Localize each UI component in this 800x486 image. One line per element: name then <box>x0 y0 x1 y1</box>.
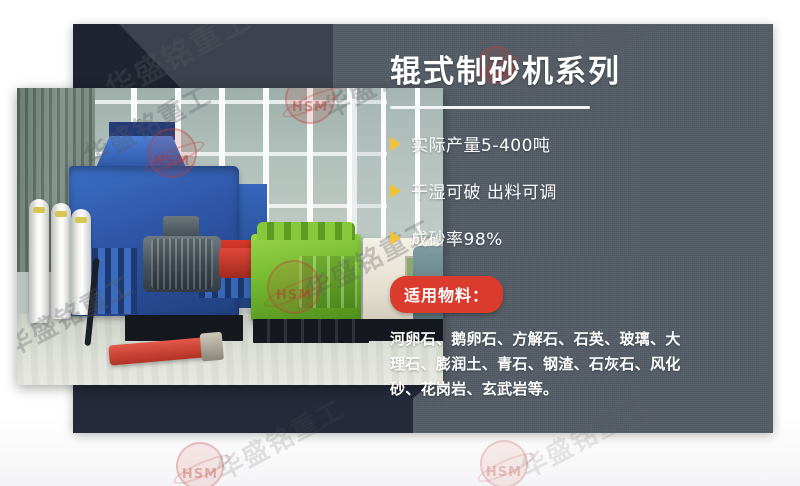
materials-badge: 适用物料： <box>390 276 503 313</box>
photo-watermark-logo-3: HSM <box>267 260 321 314</box>
photo-watermark-logo: HSM <box>147 128 197 178</box>
gas-cylinder-2 <box>51 203 71 319</box>
feature-label: 干湿可破 出料可调 <box>411 178 557 203</box>
page-watermark-logo: HSM <box>176 442 224 486</box>
page-watermark-logo-2: HSM <box>480 440 528 486</box>
product-title: 辊式制砂机系列 <box>390 55 690 89</box>
feature-item: 实际产量5-400吨 <box>390 131 690 156</box>
photo-watermark-logo-text-3: HSM <box>269 288 319 303</box>
photo-watermark-logo-text: HSM <box>149 154 195 169</box>
product-info-block: 辊式制砂机系列 实际产量5-400吨 干湿可破 出料可调 成砂率98% 适用物料… <box>390 55 690 401</box>
motor-terminal-box <box>163 216 199 238</box>
feature-list: 实际产量5-400吨 干湿可破 出料可调 成砂率98% <box>390 131 690 250</box>
machine-base-1 <box>125 315 243 341</box>
red-coupling <box>219 248 253 278</box>
title-divider <box>390 106 590 109</box>
electric-motor <box>143 236 221 292</box>
gas-cylinder-1 <box>29 199 49 323</box>
materials-text: 河卵石、鹅卵石、方解石、石英、玻璃、大理石、膨润土、青石、钢渣、石灰石、风化砂、… <box>390 327 686 401</box>
feature-label: 实际产量5-400吨 <box>411 131 550 156</box>
panel-dark-bottom-band <box>73 381 413 433</box>
page-watermark-logo-text: HSM <box>178 467 222 482</box>
gas-cylinder-3 <box>71 209 91 315</box>
feature-item: 成砂率98% <box>390 225 690 250</box>
arrow-right-icon <box>390 184 401 198</box>
photo-watermark-logo-text-2: HSM <box>287 100 333 115</box>
feature-item: 干湿可破 出料可调 <box>390 178 690 203</box>
arrow-right-icon <box>390 231 401 245</box>
page-watermark-logo-text-2: HSM <box>482 465 526 480</box>
arrow-right-icon <box>390 137 401 151</box>
poster-canvas: 华盛铭重工 HSM 华盛铭重工 HSM 华盛铭重工 <box>0 0 800 486</box>
machine-base-2 <box>253 319 369 343</box>
feature-label: 成砂率98% <box>411 225 503 250</box>
product-photo: 华盛铭重工 HSM 华盛铭重工 HSM 华盛铭重工 HSM 华盛铭重工 <box>17 88 443 385</box>
